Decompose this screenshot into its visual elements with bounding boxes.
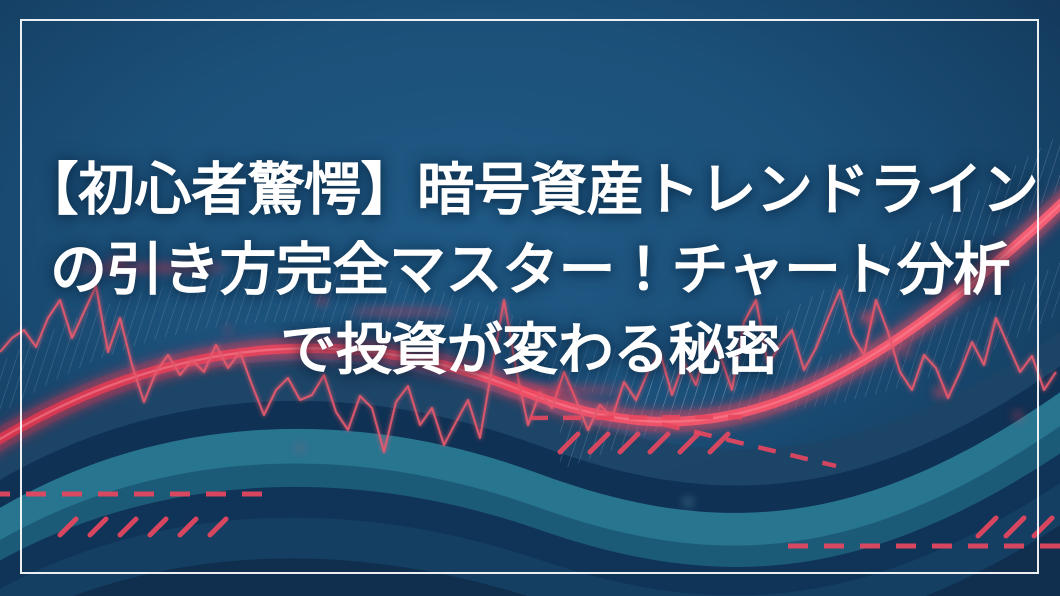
title-line-1: 【初心者驚愕】暗号資産トレンドライン bbox=[0, 150, 1060, 230]
thumbnail-canvas: 【初心者驚愕】暗号資産トレンドライン の引き方完全マスター！チャート分析 で投資… bbox=[0, 0, 1060, 596]
title-block: 【初心者驚愕】暗号資産トレンドライン の引き方完全マスター！チャート分析 で投資… bbox=[0, 150, 1060, 390]
title-line-3: で投資が変わる秘密 bbox=[0, 310, 1060, 390]
title-line-2: の引き方完全マスター！チャート分析 bbox=[0, 230, 1060, 310]
